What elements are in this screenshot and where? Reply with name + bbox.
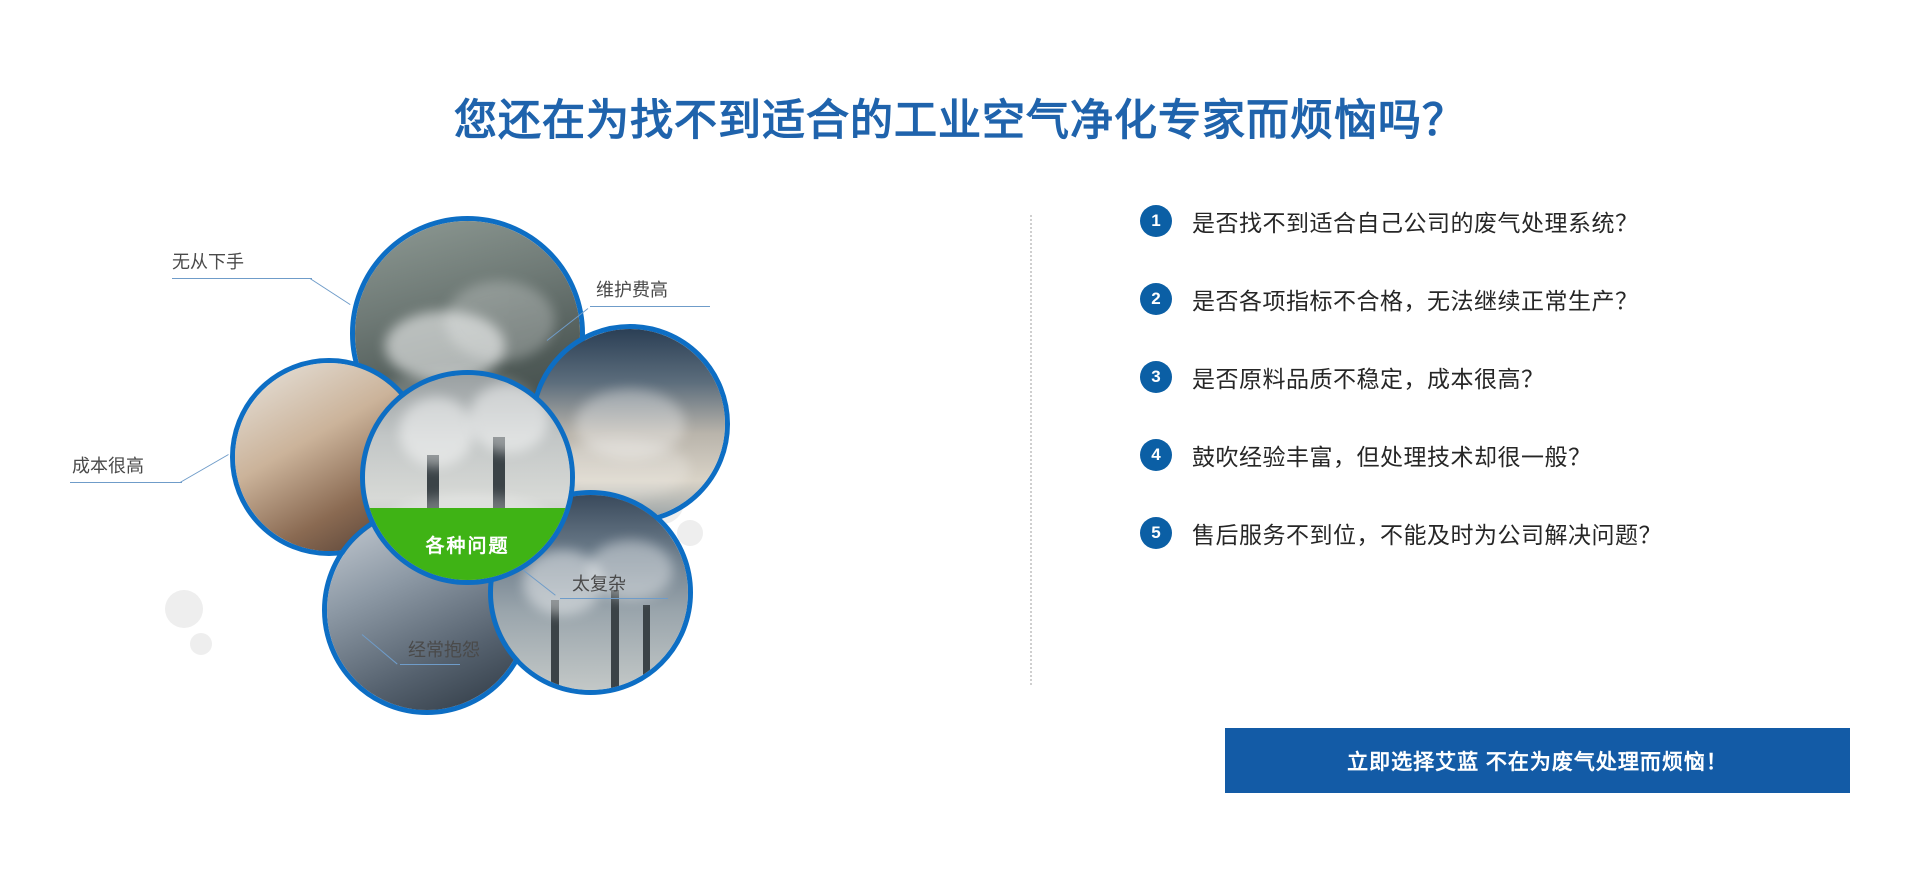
problem-list: 1 是否找不到适合自己公司的废气处理系统？ 2 是否各项指标不合格，无法继续正常… <box>1140 204 1840 594</box>
section-divider <box>1030 215 1032 685</box>
diagram-label-top-left: 无从下手 <box>172 248 244 274</box>
list-item[interactable]: 3 是否原料品质不稳定，成本很高？ <box>1140 360 1840 394</box>
leader-line-left <box>70 482 182 483</box>
list-item[interactable]: 2 是否各项指标不合格，无法继续正常生产？ <box>1140 282 1840 316</box>
decorative-dot <box>190 633 212 655</box>
list-item-label: 售后服务不到位，不能及时为公司解决问题？ <box>1192 516 1662 550</box>
leader-line-bottom <box>400 664 460 665</box>
list-item-number-badge: 2 <box>1140 283 1172 315</box>
list-item[interactable]: 4 鼓吹经验丰富，但处理技术却很一般？ <box>1140 438 1840 472</box>
list-item[interactable]: 1 是否找不到适合自己公司的废气处理系统？ <box>1140 204 1840 238</box>
decorative-dot <box>165 590 203 628</box>
diagram-label-top-right: 维护费高 <box>596 276 668 302</box>
list-item-number-badge: 4 <box>1140 439 1172 471</box>
bubble-center-problems: 各种问题 <box>360 370 575 585</box>
list-item-label: 鼓吹经验丰富，但处理技术却很一般？ <box>1192 438 1592 472</box>
list-item-number-badge: 3 <box>1140 361 1172 393</box>
leader-line-bottom-right <box>560 598 668 599</box>
diagram-label-bottom-right: 太复杂 <box>572 570 626 596</box>
problem-bubble-diagram: 各种问题 无从下手 维护费高 <box>60 190 1000 710</box>
list-item-label: 是否找不到适合自己公司的废气处理系统？ <box>1192 204 1639 238</box>
leader-line-left-angle <box>180 454 229 483</box>
leader-line-top-left-angle <box>310 278 351 305</box>
content-area: 各种问题 无从下手 维护费高 <box>0 190 1920 710</box>
leader-line-top-left <box>172 278 312 279</box>
list-item-number-badge: 1 <box>1140 205 1172 237</box>
cta-button[interactable]: 立即选择艾蓝 不在为废气处理而烦恼！ <box>1225 728 1850 793</box>
diagram-label-left: 成本很高 <box>72 452 144 478</box>
list-item-label: 是否各项指标不合格，无法继续正常生产？ <box>1192 282 1639 316</box>
list-item-label: 是否原料品质不稳定，成本很高？ <box>1192 360 1545 394</box>
list-item-number-badge: 5 <box>1140 517 1172 549</box>
list-item[interactable]: 5 售后服务不到位，不能及时为公司解决问题？ <box>1140 516 1840 550</box>
leader-line-top-right <box>590 306 710 307</box>
center-label-band: 各种问题 <box>365 508 570 580</box>
decorative-dot <box>677 520 703 546</box>
page-title: 您还在为找不到适合的工业空气净化专家而烦恼吗？ <box>0 86 1920 148</box>
diagram-label-bottom: 经常抱怨 <box>408 636 480 662</box>
